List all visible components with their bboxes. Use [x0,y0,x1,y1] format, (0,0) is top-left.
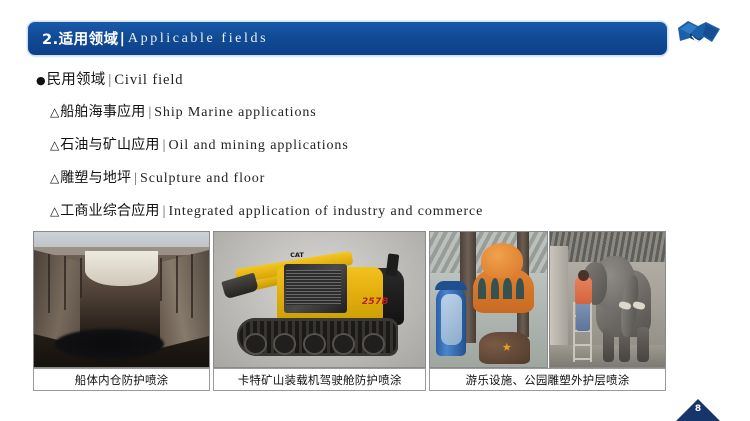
cat-model-badge: 257B [362,297,389,307]
list-item-label-en: Oil and mining applications [168,138,348,154]
list-item-label-en: Integrated application of industry and c… [168,204,483,220]
header-title-en: Applicable fields [128,31,268,47]
list-item-label-cn: 民用领域 [47,68,106,89]
content-lines: ● 民用领域 | Civil field △ 船舶海事应用 | Ship Mar… [36,68,676,233]
list-item-separator: | [145,105,154,121]
list-item-separator: | [160,204,169,220]
photo-strip: CAT 257B [33,231,666,368]
list-item: △ 雕塑与地坪 | Sculpture and floor [50,167,676,187]
list-item-separator: | [160,138,169,154]
list-item-label-en: Ship Marine applications [154,105,316,121]
list-item: ● 民用领域 | Civil field [36,68,676,89]
triangle-marker: △ [50,171,59,185]
header-title-cn: 2.适用领域 [42,28,119,49]
elephant-sculpture-photo [549,231,666,368]
list-item-label-cn: 船舶海事应用 [60,101,145,121]
octopus-sculpture-photo [429,231,547,368]
list-item-label-cn: 工商业综合应用 [60,200,159,220]
list-item-label-en: Sculpture and floor [140,171,265,187]
handshake-icon [676,16,722,56]
triangle-marker: △ [50,105,59,119]
list-item-separator: | [131,171,140,187]
triangle-marker: △ [50,204,59,218]
cat-brand-label: CAT [290,251,304,259]
section-header-bar: 2.适用领域 | Applicable fields [28,22,667,55]
list-item-label-cn: 雕塑与地坪 [60,167,131,187]
list-item: △ 石油与矿山应用 | Oil and mining applications [50,134,676,154]
bullet-marker: ● [36,74,46,87]
list-item: △ 船舶海事应用 | Ship Marine applications [50,101,676,121]
page-number: 8 [676,404,720,414]
list-item: △ 工商业综合应用 | Integrated application of in… [50,200,676,220]
photo-caption: 游乐设施、公园雕塑外护层喷涂 [429,368,666,391]
header-separator: | [119,31,126,47]
photo-caption: 卡特矿山装载机驾驶舱防护喷涂 [213,368,426,391]
list-item-label-cn: 石油与矿山应用 [60,134,159,154]
page-number-badge: 8 [676,399,720,421]
ship-cargo-hold-photo [33,231,210,368]
triangle-marker: △ [50,138,59,152]
photo-caption: 船体内仓防护喷涂 [33,368,210,391]
list-item-separator: | [105,72,114,89]
list-item-label-en: Civil field [114,72,183,89]
caption-row: 船体内仓防护喷涂 卡特矿山装载机驾驶舱防护喷涂 游乐设施、公园雕塑外护层喷涂 [33,368,666,391]
cat-track-loader-photo: CAT 257B [213,231,426,368]
